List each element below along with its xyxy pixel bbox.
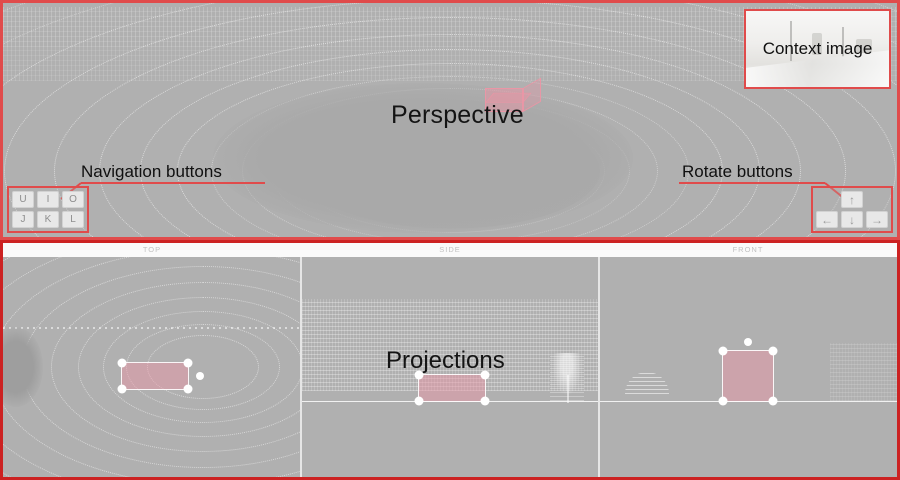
rotate-left-button[interactable]: ← (816, 211, 838, 228)
rotate-key-blank-left (816, 191, 838, 208)
bbox-handle-bottom-right[interactable] (769, 397, 778, 406)
bbox-handle-bottom-left[interactable] (414, 397, 423, 406)
bbox-handle-top-right[interactable] (769, 347, 778, 356)
projection-view-top[interactable] (3, 257, 302, 477)
nav-key-u[interactable]: U (12, 191, 34, 208)
projection-view-front[interactable] (600, 257, 897, 477)
rotate-down-button[interactable]: ↓ (841, 211, 863, 228)
top-view-bounding-box[interactable] (121, 362, 189, 390)
projection-headers: TOP SIDE FRONT (3, 243, 897, 257)
side-view-bounding-box[interactable] (418, 374, 486, 402)
bbox-handle-bottom-left[interactable] (118, 385, 127, 394)
nav-key-l[interactable]: L (62, 211, 84, 228)
context-image-panel[interactable]: Context image (744, 9, 891, 89)
rotate-up-button[interactable]: ↑ (841, 191, 863, 208)
rotate-buttons[interactable]: ↑ ← ↓ → (811, 186, 893, 233)
perspective-view[interactable]: Perspective Navigation buttons Rotate bu… (0, 0, 900, 240)
projection-header-side: SIDE (301, 243, 599, 257)
navigation-buttons-annotation: Navigation buttons (81, 162, 222, 182)
nav-key-k[interactable]: K (37, 211, 59, 228)
rotate-key-blank-right (866, 191, 888, 208)
front-view-bounding-box[interactable] (722, 350, 774, 402)
cuboid-face-side (523, 78, 541, 112)
bbox-handle-top-right[interactable] (184, 359, 193, 368)
bbox-handle-bottom-right[interactable] (480, 397, 489, 406)
context-image-label: Context image (746, 39, 889, 59)
nav-key-i[interactable]: I (37, 191, 59, 208)
side-view-tree-trunk (567, 375, 569, 403)
projection-header-top: TOP (3, 243, 301, 257)
rotate-buttons-annotation: Rotate buttons (682, 162, 793, 182)
perspective-label: Perspective (391, 101, 524, 130)
nav-key-o[interactable]: O (62, 191, 84, 208)
bbox-handle-heading[interactable] (196, 372, 204, 380)
bbox-handle-bottom-left[interactable] (719, 397, 728, 406)
front-view-scan-haze (830, 343, 897, 401)
front-view-point-cluster (625, 372, 669, 394)
bbox-handle-rotation[interactable] (744, 338, 752, 346)
projection-header-front: FRONT (599, 243, 897, 257)
navigation-buttons[interactable]: U I O J K L (7, 186, 89, 233)
bbox-handle-top-left[interactable] (118, 359, 127, 368)
bbox-handle-bottom-right[interactable] (184, 385, 193, 394)
bbox-handle-top-left[interactable] (719, 347, 728, 356)
annotation-tool-root: Perspective Navigation buttons Rotate bu… (0, 0, 900, 480)
rotate-right-button[interactable]: → (866, 211, 888, 228)
top-view-sweep-line (3, 327, 300, 329)
nav-key-j[interactable]: J (12, 211, 34, 228)
projections-annotation: Projections (386, 347, 505, 375)
